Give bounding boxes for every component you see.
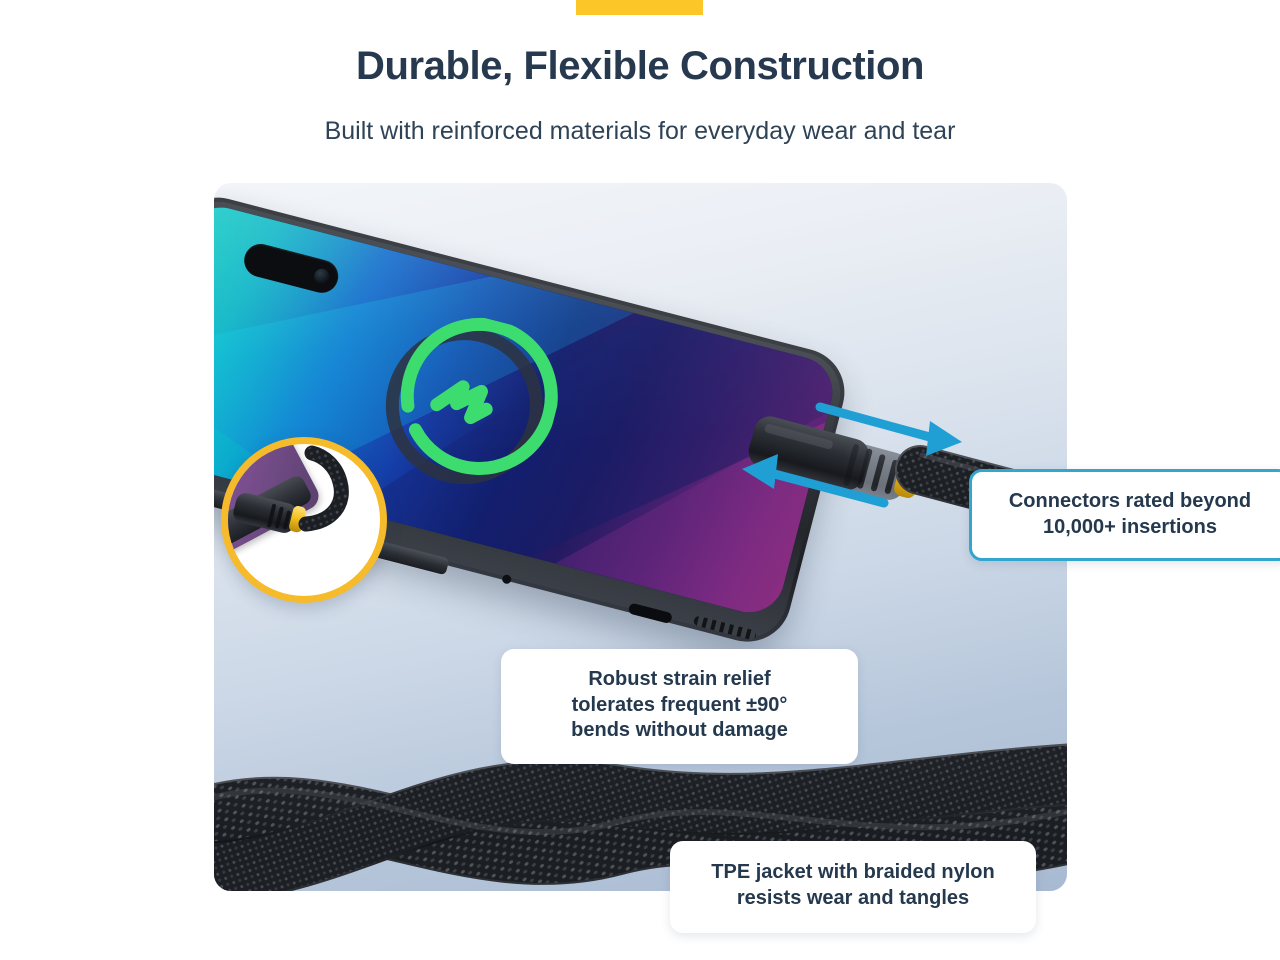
product-hero-panel: Connectors rated beyond 10,000+ insertio… [214,183,1067,891]
callout-connectors: Connectors rated beyond 10,000+ insertio… [969,469,1280,561]
smartphone-image [214,188,854,680]
insertion-arrow-right [820,407,962,456]
front-camera-icon [313,267,331,285]
magnified-bent-cable [228,444,366,582]
callout-strain-line2: tolerates frequent ±90° [517,693,842,719]
callout-strain-line3: bends without damage [517,718,842,744]
callout-tpe-line1-prefix: TPE jacket with [711,861,863,883]
callout-tpe-jacket: TPE jacket with braided nylon resists we… [670,841,1036,933]
callout-tpe-line1: TPE jacket with braided nylon [684,860,1022,886]
page-subtitle: Built with reinforced materials for ever… [0,116,1280,146]
callout-connectors-line1: Connectors rated beyond [982,489,1278,515]
callout-strain-line1: Robust strain relief [517,667,842,693]
page-title: Durable, Flexible Construction [0,43,1280,89]
callout-tpe-line1-emphasis: braided nylon [864,861,995,883]
strain-relief-magnifier [221,437,387,603]
callout-connectors-line2: 10,000+ insertions [982,515,1278,541]
top-accent-bar [576,0,703,15]
callout-tpe-line2: resists wear and tangles [684,886,1022,912]
yellow-strain-collar [892,446,926,500]
callout-strain-relief: Robust strain relief tolerates frequent … [501,649,858,764]
hero-image-clip [214,183,1067,891]
magnifier-content [228,444,366,582]
